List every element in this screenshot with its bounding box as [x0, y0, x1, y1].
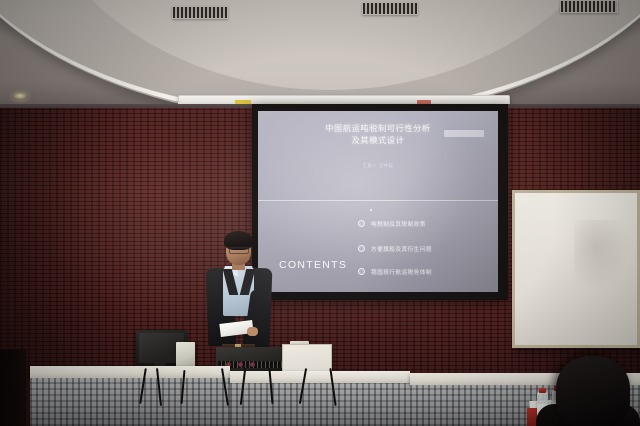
lectern-desk-top: [30, 366, 230, 378]
slide-bullet-2: 方便旗船及其衍生问题: [358, 245, 432, 253]
bullet-dot-icon: [358, 245, 365, 252]
slide-tiny-marker: [370, 209, 372, 211]
slide-subtitle: 汇报人 王仲毅: [258, 163, 498, 169]
amplifier-knob-3: [250, 362, 255, 367]
audience-member-head: [556, 356, 630, 426]
bullet-2-label: 方便旗船及其衍生问题: [371, 245, 432, 253]
recessed-downlight-left: [12, 93, 28, 100]
whiteboard-smudge: [574, 220, 630, 290]
wall-whiteboard: [512, 190, 640, 348]
bullet-dot-icon: [358, 220, 365, 227]
bullet-1-label: 吨税制及其税制政策: [371, 220, 426, 228]
slide-corner-badge: [444, 130, 484, 137]
slide-bullet-1: 吨税制及其税制政策: [358, 220, 426, 228]
air-vent-center: [362, 2, 418, 15]
middle-desk-front: [230, 383, 410, 426]
glasses-icon: [227, 247, 250, 253]
left-speaker: [176, 342, 195, 368]
contents-heading: CONTENTS: [279, 259, 347, 271]
bottle-cap-icon: [539, 388, 546, 393]
amplifier-knob-2: [238, 362, 243, 367]
air-vent-left: [172, 6, 228, 19]
presenter-hand: [247, 327, 258, 336]
foreground-dark-edge: [0, 350, 26, 426]
projection-screen-surface: 中国航运吨税制可行性分析 及其模式设计 汇报人 王仲毅 CONTENTS 吨税制…: [258, 111, 498, 292]
slide-title-area: 中国航运吨税制可行性分析 及其模式设计 汇报人 王仲毅: [258, 111, 498, 200]
projection-screen-frame: 中国航运吨税制可行性分析 及其模式设计 汇报人 王仲毅 CONTENTS 吨税制…: [252, 104, 508, 300]
bullet-3-label: 我国现行航运税务体制: [371, 268, 432, 276]
bullet-dot-icon: [358, 268, 365, 275]
slide-contents-area: CONTENTS 吨税制及其税制政策 方便旗船及其衍生问题 我国现行航运税务体制: [258, 202, 498, 293]
air-vent-right: [560, 0, 618, 13]
slide-bullet-3: 我国现行航运税务体制: [358, 268, 432, 276]
lecture-room-photo: 中国航运吨税制可行性分析 及其模式设计 汇报人 王仲毅 CONTENTS 吨税制…: [0, 0, 640, 426]
middle-desk-top: [230, 371, 410, 383]
lectern-desk-front: [30, 378, 230, 426]
